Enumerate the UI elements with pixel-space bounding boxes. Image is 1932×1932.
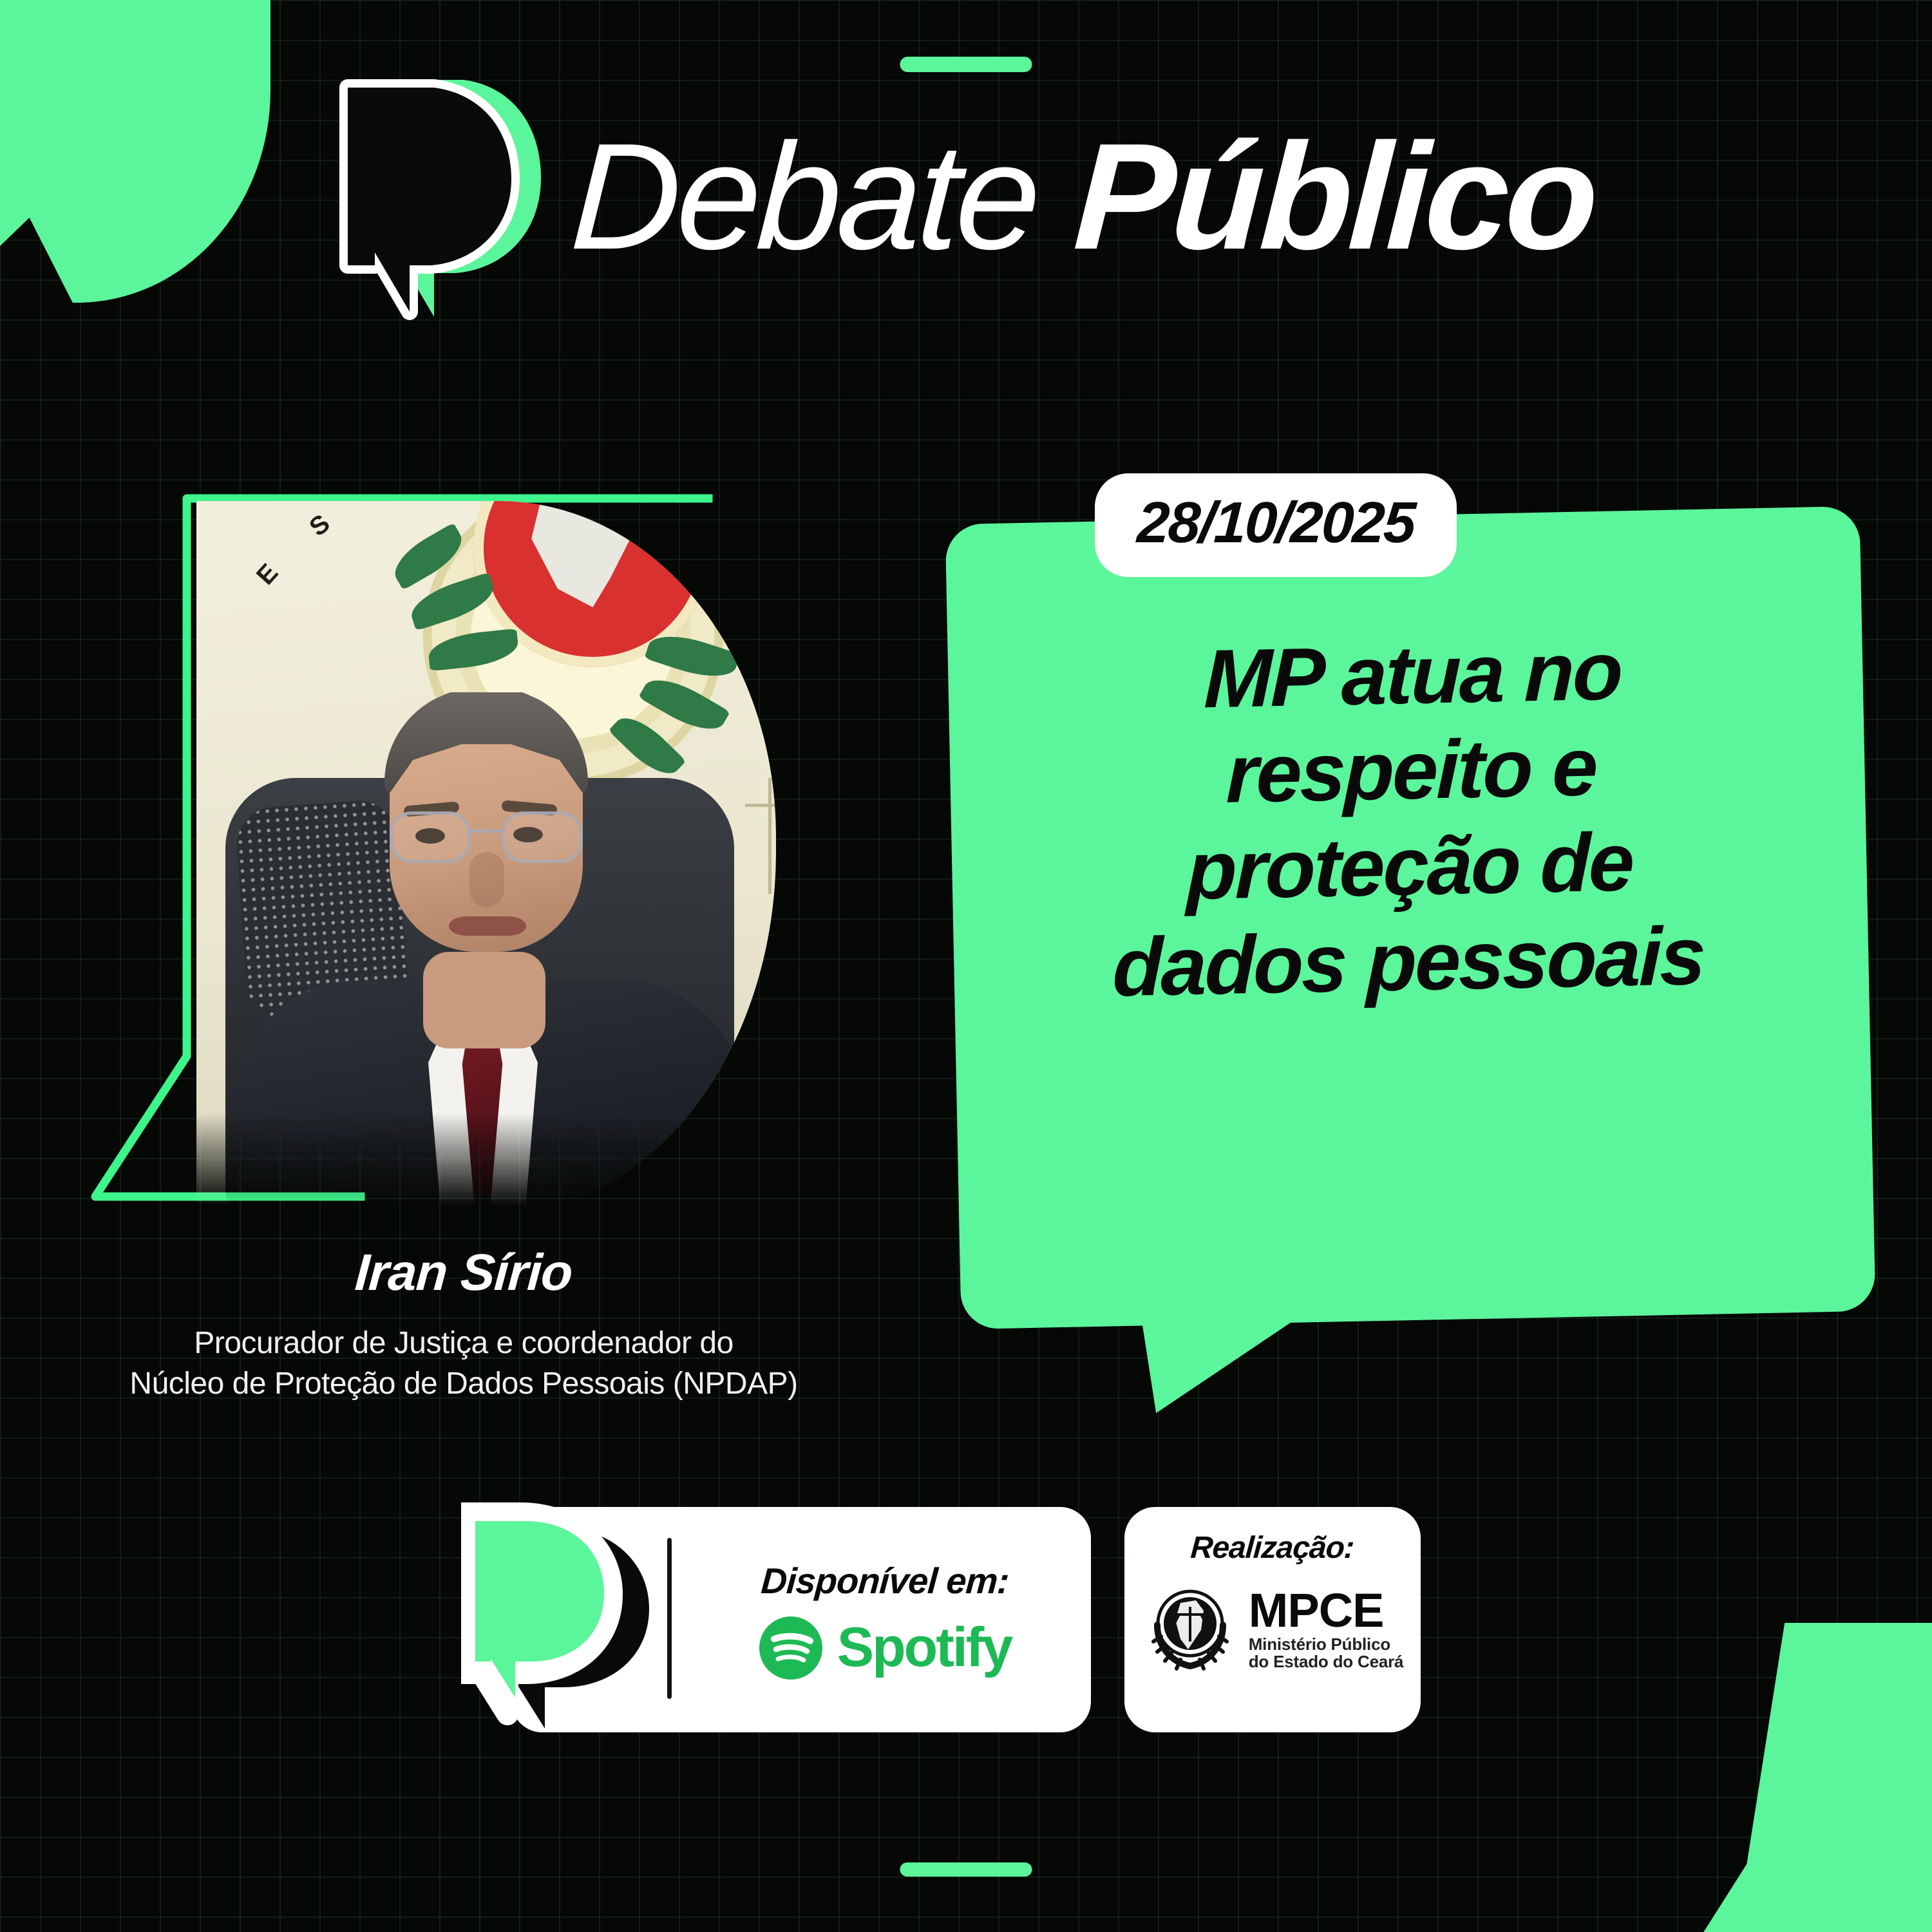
org-name-line-2: do Estado do Ceará [1249, 1653, 1404, 1671]
spotify-wordmark: Spotify [837, 1616, 1011, 1680]
episode-title-line-2: respeito e [998, 715, 1824, 828]
availability-label: Disponível em: [760, 1560, 1010, 1602]
speaker-photo-block: E S T A D O D O C E A R Á [58, 489, 908, 1249]
debate-publico-logo-icon [337, 64, 550, 322]
episode-title: MP atua no respeito e proteção de dados … [996, 620, 1826, 1019]
brand-header: Debate Público [0, 64, 1932, 322]
episode-title-bubble: MP atua no respeito e proteção de dados … [953, 515, 1868, 1320]
episode-title-line-1: MP atua no [999, 620, 1825, 732]
spotify-logo[interactable]: Spotify [759, 1616, 1011, 1680]
speaker-role-line-1: Procurador de Justiça e coordenador do [39, 1323, 889, 1363]
episode-date-badge: 28/10/2025 [1095, 473, 1457, 577]
speaker-name: Iran Sírio [37, 1243, 891, 1302]
debate-publico-mark-icon [461, 1502, 667, 1759]
brand-wordmark: Debate Público [568, 127, 1598, 266]
bubble-tail [1140, 1307, 1316, 1413]
availability-card[interactable]: Disponível em: Spotify [511, 1507, 1091, 1732]
card-divider [667, 1538, 672, 1699]
realization-card[interactable]: Realização: MPCE Ministério Público d [1124, 1507, 1421, 1732]
episode-date: 28/10/2025 [1135, 490, 1416, 556]
brand-word-publico: Público [1070, 111, 1598, 281]
speaker-role-line-2: Núcleo de Proteção de Dados Pessoais (NP… [39, 1363, 889, 1404]
brand-word-debate: Debate [567, 111, 1041, 281]
realization-label: Realização: [1190, 1530, 1356, 1566]
footer-badges: Disponível em: Spotify Realização: [0, 1507, 1932, 1732]
episode-title-line-4: dados pessoais [996, 907, 1821, 1019]
org-acronym: MPCE [1249, 1586, 1404, 1636]
spotify-icon [759, 1616, 823, 1680]
speaker-role: Procurador de Justiça e coordenador do N… [39, 1323, 889, 1405]
speaker-portrait: E S T A D O D O C E A R Á [196, 501, 776, 1213]
episode-title-line-3: proteção de [997, 811, 1823, 923]
mpce-seal-icon [1142, 1580, 1238, 1676]
speaker-caption: Iran Sírio Procurador de Justiça e coord… [39, 1243, 889, 1405]
poster-canvas: Debate Público E S [0, 0, 1932, 1932]
bottom-divider-dash [900, 1862, 1032, 1877]
org-name-line-1: Ministério Público [1249, 1636, 1404, 1653]
